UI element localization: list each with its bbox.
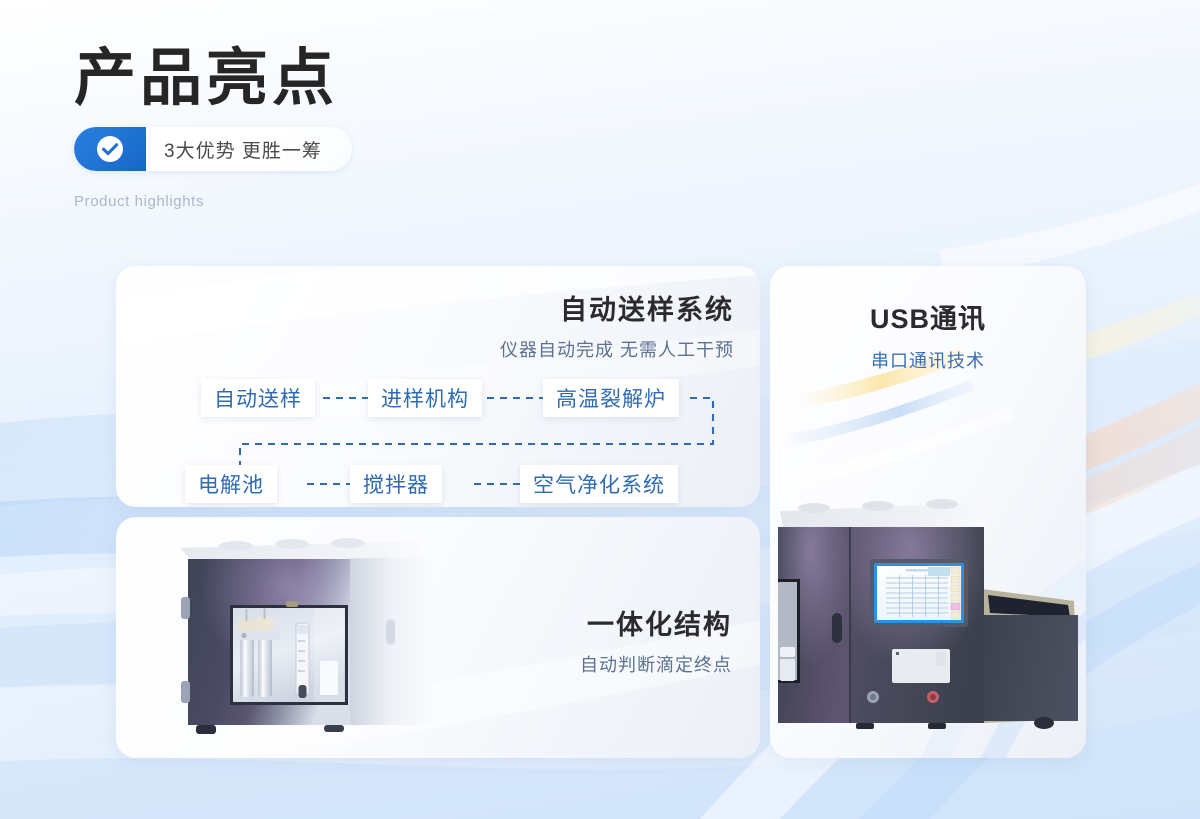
card-subtitle: 串口通讯技术: [770, 347, 1086, 373]
card-heading-group: USB通讯 串口通讯技术: [770, 297, 1086, 373]
card-subtitle: 自动判断滴定终点: [580, 651, 732, 677]
status-badge: 3大优势 更胜一筹: [74, 127, 352, 171]
flow-chip[interactable]: 空气净化系统: [520, 465, 678, 503]
process-flow-diagram: 自动送样 进样机构 高温裂解炉 电解池 搅拌器 空气净化系统: [116, 374, 760, 500]
card-heading-group: 自动送样系统 仪器自动完成 无需人工干预: [500, 288, 734, 362]
check-circle-icon: [74, 127, 146, 171]
card-heading-group: 一体化结构 自动判断滴定终点: [580, 603, 732, 677]
card-integrated-structure: 一体化结构 自动判断滴定终点: [116, 517, 760, 758]
card-title: 自动送样系统: [500, 288, 734, 327]
card-title: USB通讯: [770, 297, 1086, 336]
page-title: 产品亮点: [74, 42, 694, 113]
badge-label: 3大优势 更胜一筹: [146, 127, 352, 171]
header: 产品亮点 3大优势 更胜一筹 Product highlights: [74, 42, 694, 210]
card-auto-sampler-system: 自动送样系统 仪器自动完成 无需人工干预: [116, 266, 760, 507]
card-title: 一体化结构: [580, 603, 732, 642]
flow-chip[interactable]: 进样机构: [368, 379, 482, 417]
page-subtitle-en: Product highlights: [74, 193, 694, 210]
card-subtitle: 仪器自动完成 无需人工干预: [500, 336, 734, 362]
flow-chip[interactable]: 电解池: [185, 465, 277, 503]
instrument-full-unit-image: [778, 497, 1086, 749]
instrument-front-open-door-image: [174, 535, 440, 740]
product-highlights-poster: 产品亮点 3大优势 更胜一筹 Product highlights 自动送样系统…: [0, 0, 1200, 819]
flow-chip[interactable]: 高温裂解炉: [543, 379, 679, 417]
flow-chip[interactable]: 搅拌器: [350, 465, 442, 503]
flow-chip[interactable]: 自动送样: [201, 379, 315, 417]
card-usb-communication: USB通讯 串口通讯技术: [770, 266, 1086, 758]
